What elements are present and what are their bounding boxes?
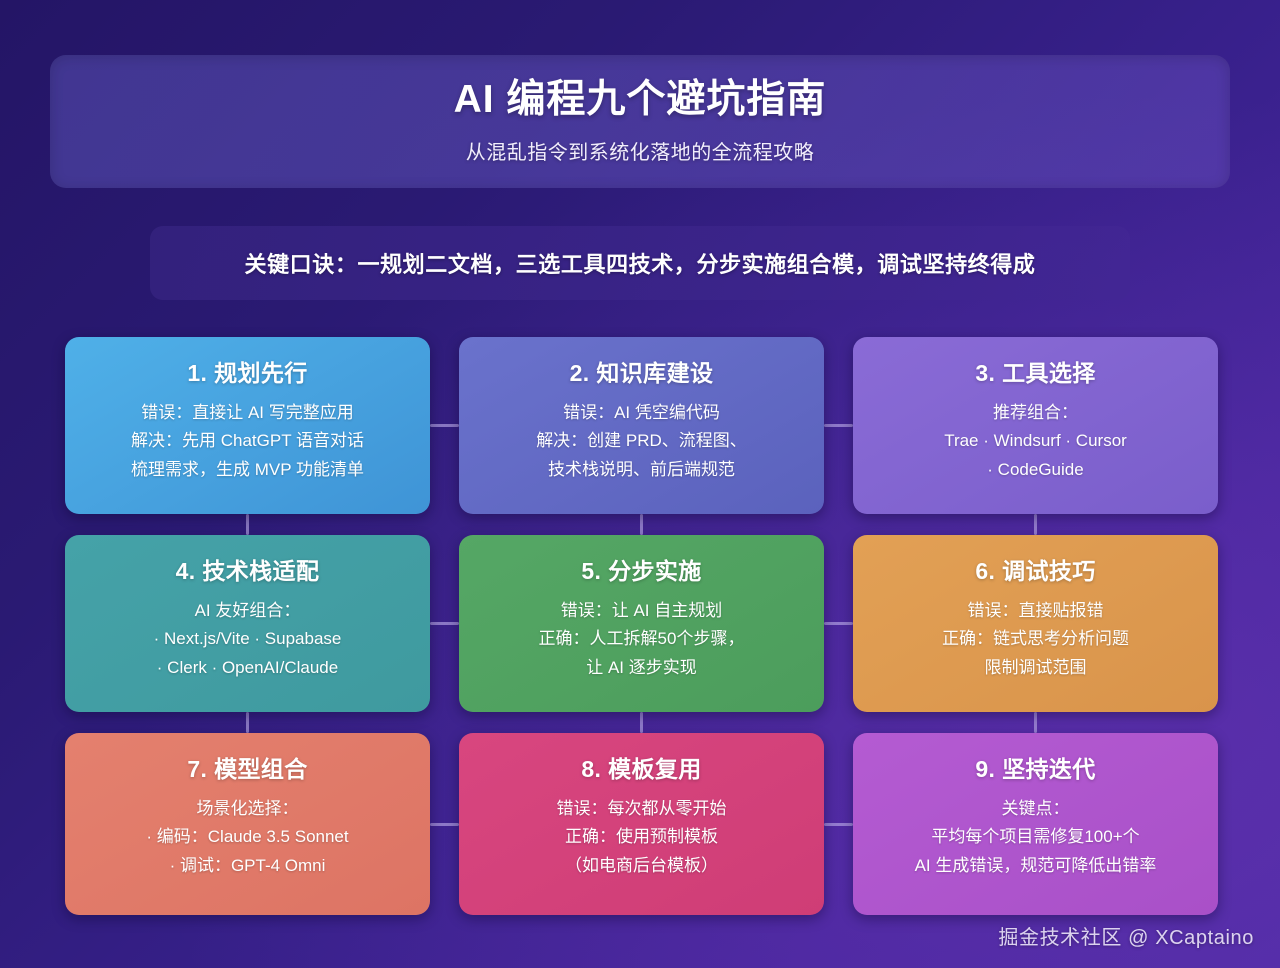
step-card-line: 错误：每次都从零开始: [557, 798, 727, 819]
step-card-body: AI 友好组合：· Next.js/Vite · Supabase· Clerk…: [79, 600, 416, 678]
step-card-7: 7. 模型组合场景化选择：· 编码：Claude 3.5 Sonnet· 调试：…: [65, 733, 430, 915]
step-card-body: 推荐组合：Trae · Windsurf · Cursor· CodeGuide: [867, 402, 1204, 480]
step-card-line: 错误：直接让 AI 写完整应用: [141, 402, 354, 423]
key-mnemonic-banner: 关键口诀：一规划二文档，三选工具四技术，分步实施组合模，调试坚持终得成: [150, 226, 1130, 300]
step-card-title: 8. 模板复用: [581, 750, 701, 784]
step-card-1: 1. 规划先行错误：直接让 AI 写完整应用解决：先用 ChatGPT 语音对话…: [65, 337, 430, 514]
step-card-body: 错误：直接让 AI 写完整应用解决：先用 ChatGPT 语音对话梳理需求，生成…: [79, 402, 416, 480]
step-card-line: 错误：让 AI 自主规划: [561, 600, 723, 621]
step-card-line: 错误：AI 凭空编代码: [563, 402, 720, 423]
step-card-line: 解决：创建 PRD、流程图、: [536, 430, 747, 451]
step-card-line: 正确：人工拆解50个步骤，: [539, 628, 745, 649]
step-card-line: 错误：直接贴报错: [968, 600, 1104, 621]
step-card-line: 限制调试范围: [985, 657, 1087, 678]
step-card-title: 7. 模型组合: [187, 750, 307, 784]
step-card-body: 错误：每次都从零开始正确：使用预制模板（如电商后台模板）: [473, 798, 810, 876]
step-card-line: 正确：使用预制模板: [565, 826, 718, 847]
step-card-3: 3. 工具选择推荐组合：Trae · Windsurf · Cursor· Co…: [853, 337, 1218, 514]
step-card-line: （如电商后台模板）: [565, 855, 718, 876]
step-card-line: AI 友好组合：: [195, 600, 301, 621]
step-card-title: 9. 坚持迭代: [975, 750, 1095, 784]
step-card-line: 让 AI 逐步实现: [586, 657, 697, 678]
step-card-title: 1. 规划先行: [187, 354, 307, 388]
step-card-line: AI 生成错误，规范可降低出错率: [915, 855, 1157, 876]
step-card-line: · 调试：GPT-4 Omni: [170, 855, 326, 876]
step-card-line: 推荐组合：: [993, 402, 1078, 423]
step-card-line: 场景化选择：: [197, 798, 299, 819]
step-card-line: 正确：链式思考分析问题: [942, 628, 1129, 649]
step-card-line: 梳理需求，生成 MVP 功能清单: [131, 459, 364, 480]
step-card-line: · Next.js/Vite · Supabase: [154, 628, 342, 649]
step-card-body: 错误：让 AI 自主规划正确：人工拆解50个步骤，让 AI 逐步实现: [473, 600, 810, 678]
step-card-body: 关键点：平均每个项目需修复100+个AI 生成错误，规范可降低出错率: [867, 798, 1204, 876]
step-card-title: 3. 工具选择: [975, 354, 1095, 388]
step-card-title: 6. 调试技巧: [975, 552, 1095, 586]
key-mnemonic-text: 关键口诀：一规划二文档，三选工具四技术，分步实施组合模，调试坚持终得成: [244, 247, 1035, 279]
step-card-body: 场景化选择：· 编码：Claude 3.5 Sonnet· 调试：GPT-4 O…: [79, 798, 416, 876]
step-card-line: Trae · Windsurf · Cursor: [944, 430, 1127, 451]
step-card-body: 错误：直接贴报错正确：链式思考分析问题限制调试范围: [867, 600, 1204, 678]
watermark: 掘金技术社区 @ XCaptaino: [998, 921, 1254, 950]
header-banner: AI 编程九个避坑指南 从混乱指令到系统化落地的全流程攻略: [50, 55, 1230, 188]
step-card-line: 解决：先用 ChatGPT 语音对话: [131, 430, 364, 451]
step-card-title: 2. 知识库建设: [570, 354, 714, 388]
step-card-4: 4. 技术栈适配AI 友好组合：· Next.js/Vite · Supabas…: [65, 535, 430, 712]
page-subtitle: 从混乱指令到系统化落地的全流程攻略: [466, 136, 815, 165]
steps-grid: 1. 规划先行错误：直接让 AI 写完整应用解决：先用 ChatGPT 语音对话…: [65, 337, 1218, 915]
step-card-line: 技术栈说明、前后端规范: [548, 459, 735, 480]
step-card-line: · Clerk · OpenAI/Claude: [157, 657, 338, 678]
step-card-title: 4. 技术栈适配: [176, 552, 320, 586]
step-card-9: 9. 坚持迭代关键点：平均每个项目需修复100+个AI 生成错误，规范可降低出错…: [853, 733, 1218, 915]
step-card-title: 5. 分步实施: [581, 552, 701, 586]
step-card-8: 8. 模板复用错误：每次都从零开始正确：使用预制模板（如电商后台模板）: [459, 733, 824, 915]
step-card-2: 2. 知识库建设错误：AI 凭空编代码解决：创建 PRD、流程图、技术栈说明、前…: [459, 337, 824, 514]
step-card-body: 错误：AI 凭空编代码解决：创建 PRD、流程图、技术栈说明、前后端规范: [473, 402, 810, 480]
step-card-line: 平均每个项目需修复100+个: [931, 826, 1139, 847]
page-title: AI 编程九个避坑指南: [454, 78, 827, 123]
step-card-line: · 编码：Claude 3.5 Sonnet: [146, 826, 348, 847]
step-card-5: 5. 分步实施错误：让 AI 自主规划正确：人工拆解50个步骤，让 AI 逐步实…: [459, 535, 824, 712]
step-card-6: 6. 调试技巧错误：直接贴报错正确：链式思考分析问题限制调试范围: [853, 535, 1218, 712]
step-card-line: 关键点：: [1002, 798, 1070, 819]
step-card-line: · CodeGuide: [987, 459, 1083, 480]
infographic-poster: AI 编程九个避坑指南 从混乱指令到系统化落地的全流程攻略 关键口诀：一规划二文…: [0, 0, 1280, 968]
